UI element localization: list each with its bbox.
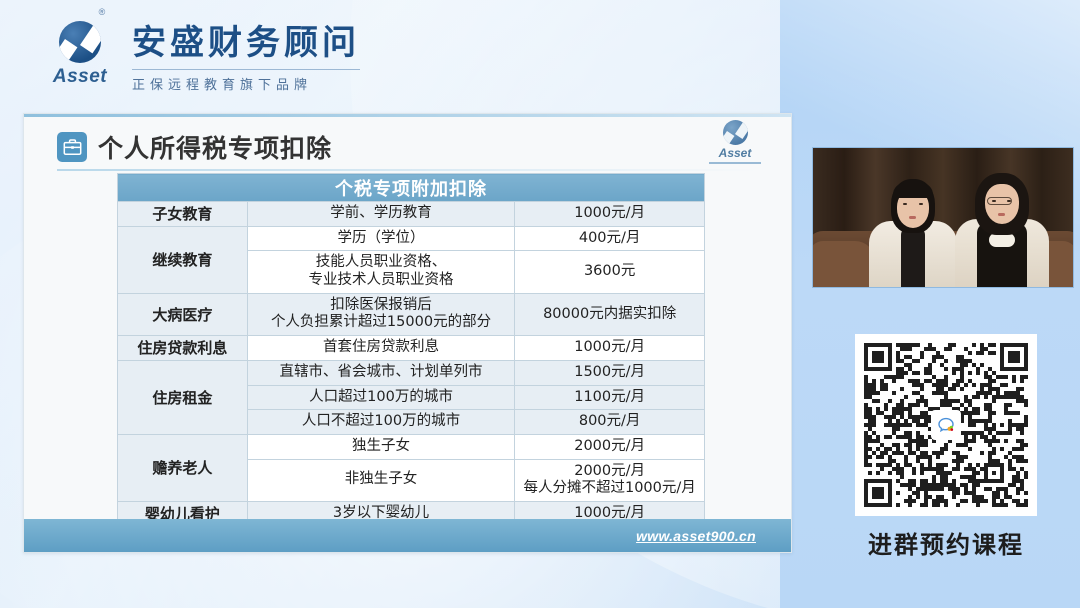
table-cell-description: 首套住房贷款利息 [247,336,515,361]
right-panel-background [780,0,1080,608]
presenter-left-eye-right [919,203,923,205]
wechat-speech-bubble-icon [931,410,961,440]
presenter-left-bangs [893,183,933,198]
table-row: 赡养老人独生子女2000元/月 [118,434,705,459]
table-cell-description: 非独生子女 [247,459,515,501]
presenter-left-inner-top [901,227,925,287]
table-cell-description: 学历（学位） [247,226,515,251]
presenter-right-eye-right [1007,200,1011,202]
brand-header: ® Asset 安盛财务顾问 正保远程教育旗下品牌 [0,0,792,108]
table-row: 继续教育学历（学位）400元/月 [118,226,705,251]
table-cell-amount: 1100元/月 [515,385,705,410]
presenter-left [865,175,961,287]
presenter-video-feed[interactable] [812,147,1074,288]
table-cell-category: 大病医疗 [118,293,248,335]
table-row: 子女教育学前、学历教育1000元/月 [118,202,705,227]
table-cell-description: 人口不超过100万的城市 [247,410,515,435]
presenter-right-eye-left [992,200,996,202]
table-body: 子女教育学前、学历教育1000元/月继续教育学历（学位）400元/月技能人员职业… [118,202,705,527]
deduction-table: 个税专项附加扣除 子女教育学前、学历教育1000元/月继续教育学历（学位）400… [117,173,705,527]
table-cell-amount: 2000元/月每人分摊不超过1000元/月 [515,459,705,501]
qr-call-to-action: 进群预约课程 [855,525,1037,560]
brand-text-block: 安盛财务顾问 正保远程教育旗下品牌 [132,15,360,93]
presenter-right [953,171,1053,287]
table-caption: 个税专项附加扣除 [118,174,705,202]
registered-mark: ® [99,7,106,17]
slide-watermark-logo: Asset [704,120,766,164]
table-cell-amount: 1000元/月 [515,202,705,227]
table-cell-amount: 3600元 [515,251,705,293]
slide-footer: www.asset900.cn [24,519,791,552]
table-cell-amount: 2000元/月 [515,434,705,459]
table-row: 住房贷款利息首套住房贷款利息1000元/月 [118,336,705,361]
table-cell-description: 直辖市、省会城市、计划单列市 [247,360,515,385]
watermark-latin-name: Asset [719,146,752,160]
brand-latin-name: Asset [53,66,107,88]
table-cell-description: 学前、学历教育 [247,202,515,227]
table-cell-amount: 400元/月 [515,226,705,251]
table-cell-category: 住房租金 [118,360,248,434]
table-cell-description: 扣除医保报销后个人负担累计超过15000元的部分 [247,293,515,335]
table-cell-description: 独生子女 [247,434,515,459]
table-cell-category: 赡养老人 [118,434,248,501]
brand-tagline: 正保远程教育旗下品牌 [132,74,360,93]
brand-logo: ® Asset [44,21,116,88]
asset-diamond-logo-icon [59,21,101,63]
wechat-qr-code[interactable] [855,334,1037,516]
table-cell-amount: 80000元内据实扣除 [515,293,705,335]
footer-website-link[interactable]: www.asset900.cn [636,528,756,544]
table-cell-category: 继续教育 [118,226,248,293]
title-underline [57,169,757,171]
brand-divider [132,69,360,70]
table-cell-amount: 800元/月 [515,410,705,435]
brand-chinese-name: 安盛财务顾问 [132,15,360,64]
page-title: 个人所得税专项扣除 [98,129,332,165]
table-cell-description: 人口超过100万的城市 [247,385,515,410]
presenter-left-mouth [909,216,916,219]
presenter-right-bow [989,233,1015,247]
asset-diamond-logo-icon [723,120,748,145]
slide-title-row: 个人所得税专项扣除 [24,117,791,165]
table-cell-amount: 1500元/月 [515,360,705,385]
table-cell-amount: 1000元/月 [515,336,705,361]
table-cell-category: 住房贷款利息 [118,336,248,361]
table-row: 大病医疗扣除医保报销后个人负担累计超过15000元的部分80000元内据实扣除 [118,293,705,335]
table-cell-category: 子女教育 [118,202,248,227]
briefcase-icon [57,132,87,162]
table-row: 住房租金直辖市、省会城市、计划单列市1500元/月 [118,360,705,385]
table-cell-description: 技能人员职业资格、专业技术人员职业资格 [247,251,515,293]
watermark-divider [709,162,761,164]
presenter-right-mouth [998,213,1005,216]
presenter-left-eye-left [903,203,907,205]
slide-card: 个人所得税专项扣除 Asset 个税专项附加扣除 子女教育学前、学历教育1000… [23,113,792,553]
